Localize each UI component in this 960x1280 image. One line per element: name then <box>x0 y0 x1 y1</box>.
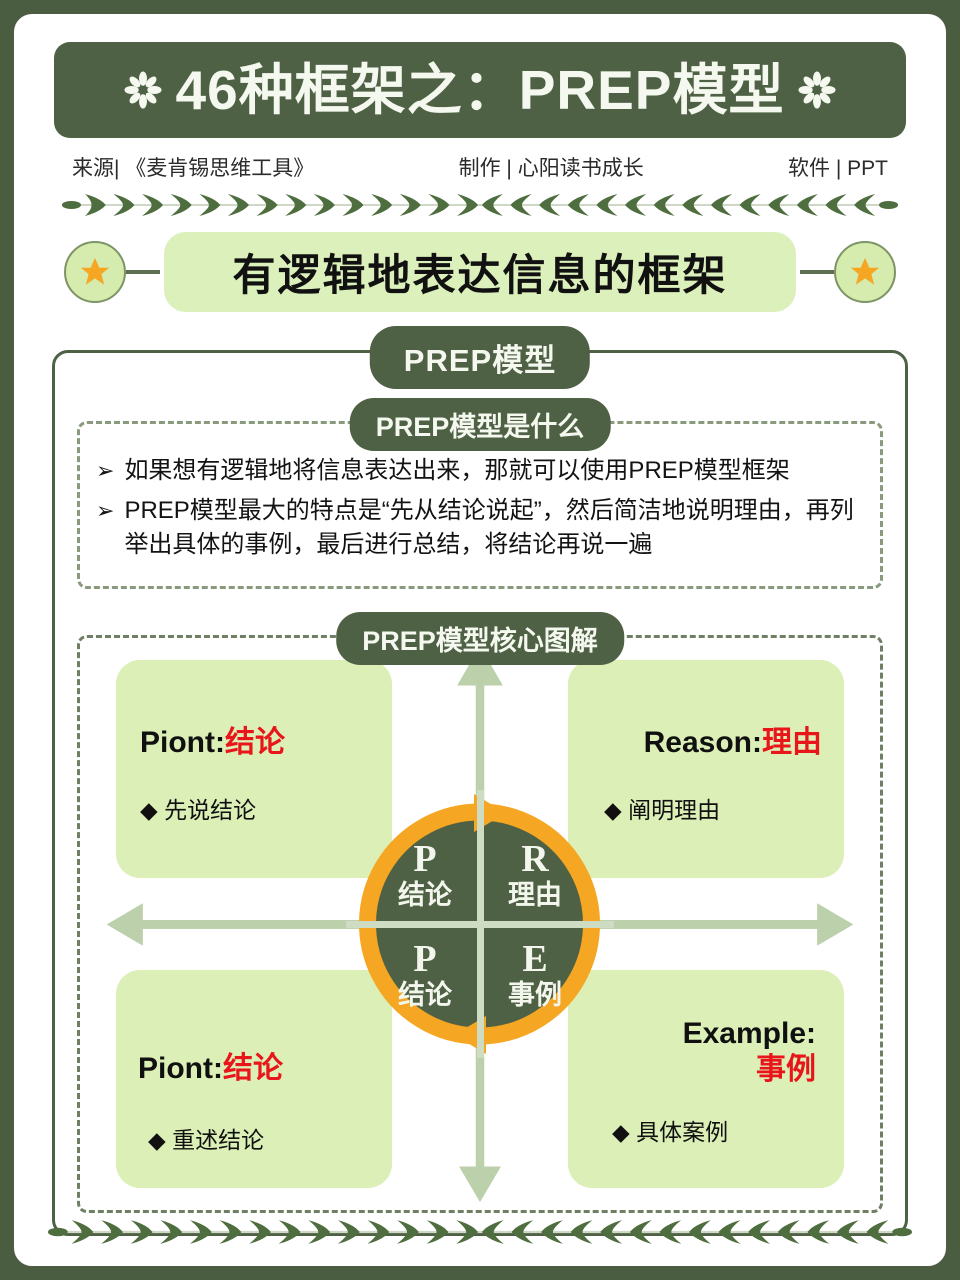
subtitle-pill: 有逻辑地表达信息的框架 <box>164 232 796 312</box>
wheel-word: 理由 <box>508 881 562 909</box>
definition-bullet: ➢ 如果想有逻辑地将信息表达出来，那就可以使用PREP模型框架 <box>96 454 864 488</box>
diagram-tab: PREP模型核心图解 <box>336 612 624 665</box>
star-icon <box>848 255 882 289</box>
diagram-stage: Piont:结论 ◆ 先说结论 Reason:理由 ◆ 阐明理由 Piont:结… <box>80 638 880 1210</box>
quadrant-detail: ◆ 具体案例 <box>586 1113 826 1147</box>
quadrant-heading-en: Example: <box>683 1017 816 1050</box>
connector-line-left <box>126 270 160 274</box>
wheel-letter: P <box>413 840 436 878</box>
quadrant-heading-cn: 结论 <box>225 726 285 759</box>
flower-icon <box>798 71 836 109</box>
quadrant-heading: Piont:结论 <box>134 1052 374 1087</box>
quadrant-detail: ◆ 重述结论 <box>134 1121 374 1155</box>
prep-cycle-wheel: P 结论 R 理由 P 结论 <box>346 790 614 1058</box>
meta-software: 软件 | PPT <box>788 152 888 182</box>
page-title: 46种框架之：PREP模型 <box>176 63 785 118</box>
main-card: PREP模型 PREP模型是什么 ➢ 如果想有逻辑地将信息表达出来，那就可以使用… <box>52 350 908 1236</box>
definition-bullet-text: PREP模型最大的特点是“先从结论说起”，然后简洁地说明理由，再列举出具体的事例… <box>124 494 864 562</box>
subtitle-text: 有逻辑地表达信息的框架 <box>233 241 728 303</box>
quadrant-detail-text: 具体案例 <box>636 1119 728 1145</box>
leaf-vine-divider-icon <box>46 1218 914 1246</box>
poster-frame: 46种框架之：PREP模型 来源| 《麦肯锡思维工具 <box>14 14 946 1266</box>
meta-source: 来源| 《麦肯锡思维工具》 <box>72 152 314 182</box>
meta-creator: 制作 | 心阳读书成长 <box>459 152 644 182</box>
bullet-marker-icon: ➢ <box>96 454 114 487</box>
star-badge-left <box>64 241 126 303</box>
star-badge-right <box>834 241 896 303</box>
quadrant-heading-en: Reason: <box>644 726 762 759</box>
quadrant-heading-en: Piont: <box>140 726 225 759</box>
diamond-bullet-icon: ◆ <box>140 797 158 823</box>
bullet-marker-icon: ➢ <box>96 494 114 527</box>
wheel-word: 结论 <box>398 981 452 1009</box>
wheel-cell-r-reason: R 理由 <box>480 810 594 924</box>
title-banner: 46种框架之：PREP模型 <box>54 42 906 138</box>
wheel-letter: R <box>521 840 548 878</box>
definition-tab: PREP模型是什么 <box>350 398 611 451</box>
flower-icon <box>124 71 162 109</box>
definition-bullet: ➢ PREP模型最大的特点是“先从结论说起”，然后简洁地说明理由，再列举出具体的… <box>96 494 864 562</box>
quadrant-heading: Piont:结论 <box>134 726 374 761</box>
connector-line-right <box>800 270 834 274</box>
subtitle-row: 有逻辑地表达信息的框架 <box>46 232 914 312</box>
diagram-section: PREP模型核心图解 <box>77 635 883 1213</box>
quadrant-heading-en: Piont: <box>138 1052 223 1085</box>
leaf-vine-divider-icon <box>60 192 900 218</box>
diamond-bullet-icon: ◆ <box>148 1127 166 1153</box>
quadrant-detail: ◆ 先说结论 <box>134 791 374 825</box>
star-icon <box>78 255 112 289</box>
main-card-tab: PREP模型 <box>370 326 590 389</box>
wheel-cell-p-point-restate: P 结论 <box>366 924 480 1038</box>
quadrant-detail: ◆ 阐明理由 <box>586 791 826 825</box>
definition-bullet-text: 如果想有逻辑地将信息表达出来，那就可以使用PREP模型框架 <box>124 454 864 488</box>
quadrant-heading-cn: 理由 <box>762 726 822 759</box>
poster-sheet: 46种框架之：PREP模型 来源| 《麦肯锡思维工具 <box>20 20 940 1260</box>
quadrant-detail-text: 先说结论 <box>164 797 256 823</box>
wheel-divider-horizontal <box>346 921 614 928</box>
poster-root: 46种框架之：PREP模型 来源| 《麦肯锡思维工具 <box>0 0 960 1280</box>
wheel-word: 事例 <box>508 981 562 1009</box>
wheel-cell-e-example: E 事例 <box>480 924 594 1038</box>
quadrant-heading: Reason:理由 <box>586 726 826 761</box>
meta-row: 来源| 《麦肯锡思维工具》 制作 | 心阳读书成长 软件 | PPT <box>72 152 888 182</box>
definition-section: PREP模型是什么 ➢ 如果想有逻辑地将信息表达出来，那就可以使用PREP模型框… <box>77 421 883 589</box>
wheel-letter: P <box>413 940 436 978</box>
quadrant-heading-cn: 结论 <box>223 1052 283 1085</box>
quadrant-detail-text: 重述结论 <box>172 1127 264 1153</box>
wheel-word: 结论 <box>398 881 452 909</box>
quadrant-detail-text: 阐明理由 <box>628 797 720 823</box>
diamond-bullet-icon: ◆ <box>612 1119 630 1145</box>
quadrant-heading: Example:事例 <box>586 1016 826 1087</box>
wheel-letter: E <box>522 940 547 978</box>
quadrant-heading-cn: 事例 <box>586 1052 816 1087</box>
wheel-cell-p-point: P 结论 <box>366 810 480 924</box>
